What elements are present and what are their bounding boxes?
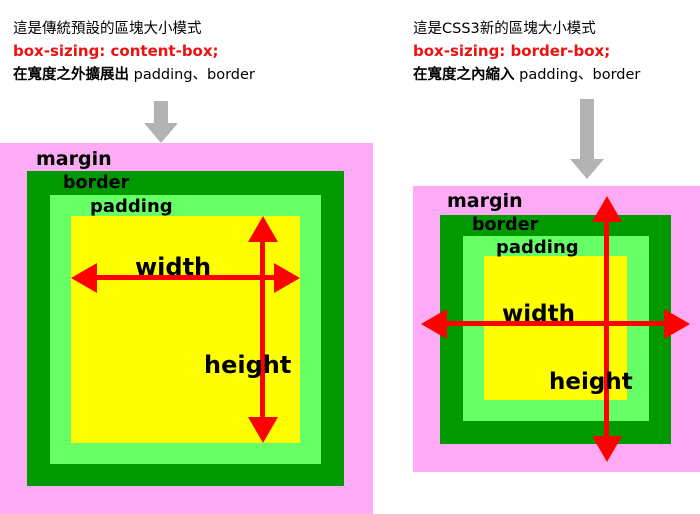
arrow-head xyxy=(570,159,604,179)
arrow-line xyxy=(604,214,609,444)
arrow-head-bottom xyxy=(592,436,622,462)
arrow-head-right xyxy=(274,263,300,293)
arrow-head-right xyxy=(664,309,690,339)
border-label: border xyxy=(63,173,129,193)
arrow-head-left xyxy=(421,309,447,339)
box-sizing-diagram: 這是傳統預設的區塊大小模式 box-sizing: content-box; 在… xyxy=(0,0,700,514)
height-measure-arrow xyxy=(604,196,609,462)
arrow-head-bottom xyxy=(248,417,278,443)
width-label: width xyxy=(135,253,211,281)
caption-line-behavior: 在寬度之內縮入 padding、border xyxy=(413,64,640,86)
border-label: border xyxy=(472,215,538,235)
arrow-head-top xyxy=(248,216,278,242)
caption-behavior-cjk: 在寬度之內縮入 xyxy=(413,67,515,83)
caption-content-box: 這是傳統預設的區塊大小模式 box-sizing: content-box; 在… xyxy=(13,18,255,86)
arrow-line xyxy=(260,234,265,425)
caption-line-css-declaration: box-sizing: border-box; xyxy=(413,40,640,63)
content-region xyxy=(71,216,300,443)
caption-behavior-latin: padding、border xyxy=(519,67,640,83)
arrow-head xyxy=(144,123,178,143)
padding-label: padding xyxy=(496,237,579,258)
margin-label: margin xyxy=(447,190,523,212)
height-label: height xyxy=(549,369,633,395)
margin-label: margin xyxy=(36,148,112,170)
height-label: height xyxy=(204,351,291,379)
caption-line-css-declaration: box-sizing: content-box; xyxy=(13,40,255,63)
height-measure-arrow xyxy=(260,216,265,443)
width-label: width xyxy=(502,301,575,327)
caption-behavior-cjk: 在寬度之外擴展出 xyxy=(13,67,129,83)
arrow-head-top xyxy=(592,196,622,222)
caption-line-description: 這是CSS3新的區塊大小模式 xyxy=(413,18,640,40)
arrow-head-left xyxy=(71,263,97,293)
arrow-shaft xyxy=(154,101,168,125)
caption-border-box: 這是CSS3新的區塊大小模式 box-sizing: border-box; 在… xyxy=(413,18,640,86)
caption-behavior-latin: padding、border xyxy=(134,67,255,83)
caption-line-behavior: 在寬度之外擴展出 padding、border xyxy=(13,64,255,86)
arrow-shaft xyxy=(580,99,594,161)
padding-label: padding xyxy=(90,196,173,217)
caption-line-description: 這是傳統預設的區塊大小模式 xyxy=(13,18,255,40)
